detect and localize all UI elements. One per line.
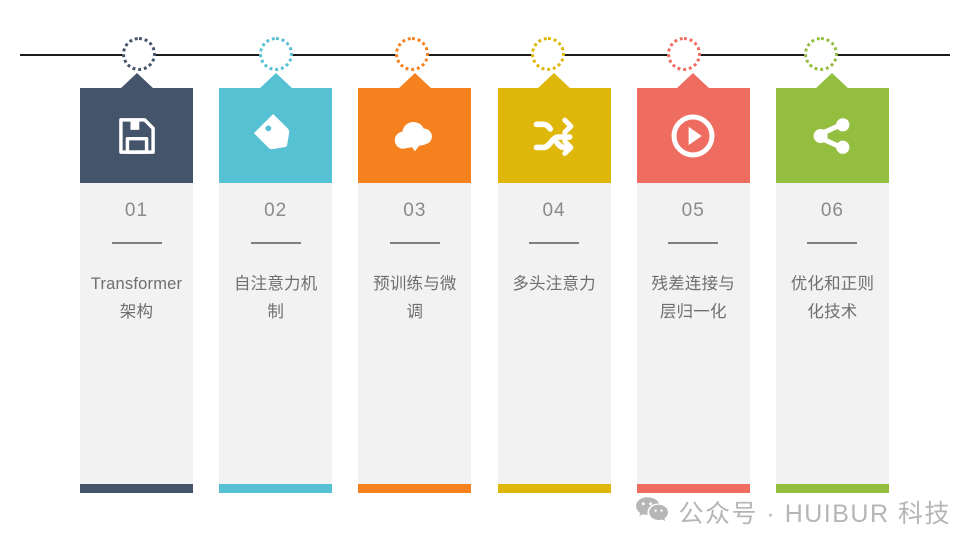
timeline-dot-02 <box>259 37 293 71</box>
card-body-04: 04 多头注意力 <box>498 183 611 484</box>
card-pointer-06 <box>815 73 849 89</box>
card-text-02: 自注意力机制 <box>227 270 324 327</box>
card-body-01: 01 Transformer架构 <box>80 183 193 484</box>
card-text-05: 残差连接与层归一化 <box>645 270 742 327</box>
card-rule-06 <box>807 242 857 244</box>
card-footbar-01 <box>80 484 193 493</box>
card-rule-03 <box>390 242 440 244</box>
card-number-06: 06 <box>821 201 844 220</box>
card-body-02: 02 自注意力机制 <box>219 183 332 484</box>
card-header-02 <box>219 88 332 183</box>
timeline-dot-05 <box>667 37 701 71</box>
card-text-04: 多头注意力 <box>512 270 596 298</box>
wechat-icon <box>635 496 669 529</box>
card-footbar-02 <box>219 484 332 493</box>
card-text-01: Transformer架构 <box>88 270 185 327</box>
card-rule-05 <box>668 242 718 244</box>
card-rule-04 <box>529 242 579 244</box>
card-05[interactable]: 05 残差连接与层归一化 <box>637 88 750 493</box>
timeline-dot-03 <box>395 37 429 71</box>
timeline-dot-06 <box>804 37 838 71</box>
card-pointer-01 <box>120 73 154 89</box>
infographic-slide: 01 Transformer架构 02 <box>0 0 969 540</box>
card-body-05: 05 残差连接与层归一化 <box>637 183 750 484</box>
card-header-05 <box>637 88 750 183</box>
watermark: 公众号 · HUIBUR 科技 <box>635 494 951 530</box>
card-02[interactable]: 02 自注意力机制 <box>219 88 332 493</box>
card-number-04: 04 <box>542 201 565 220</box>
card-pointer-04 <box>537 73 571 89</box>
card-row: 01 Transformer架构 02 <box>0 88 969 493</box>
play-circle-icon <box>668 111 718 161</box>
card-03[interactable]: 03 预训练与微调 <box>358 88 471 493</box>
card-footbar-03 <box>358 484 471 493</box>
card-header-06 <box>776 88 889 183</box>
cloud-download-icon <box>389 110 441 162</box>
share-nodes-icon <box>808 112 856 160</box>
card-number-01: 01 <box>125 201 148 220</box>
card-rule-02 <box>251 242 301 244</box>
card-pointer-03 <box>398 73 432 89</box>
card-footbar-05 <box>637 484 750 493</box>
timeline-dot-01 <box>122 37 156 71</box>
card-text-03: 预训练与微调 <box>366 270 463 327</box>
watermark-text: 公众号 · HUIBUR 科技 <box>678 494 951 530</box>
card-body-03: 03 预训练与微调 <box>358 183 471 484</box>
card-number-02: 02 <box>264 201 287 220</box>
card-footbar-06 <box>776 484 889 493</box>
shuffle-icon <box>529 111 579 161</box>
floppy-disk-save-icon <box>114 113 160 159</box>
card-body-06: 06 优化和正则化技术 <box>776 183 889 484</box>
card-text-06: 优化和正则化技术 <box>784 270 881 327</box>
card-pointer-05 <box>676 73 710 89</box>
card-footbar-04 <box>498 484 611 493</box>
card-04[interactable]: 04 多头注意力 <box>498 88 611 493</box>
timeline-dot-04 <box>531 37 565 71</box>
card-rule-01 <box>112 242 162 244</box>
card-pointer-02 <box>259 73 293 89</box>
card-06[interactable]: 06 优化和正则化技术 <box>776 88 889 493</box>
card-header-01 <box>80 88 193 183</box>
card-01[interactable]: 01 Transformer架构 <box>80 88 193 493</box>
tag-icon <box>252 112 300 160</box>
card-number-05: 05 <box>682 201 705 220</box>
card-header-03 <box>358 88 471 183</box>
card-header-04 <box>498 88 611 183</box>
card-number-03: 03 <box>403 201 426 220</box>
